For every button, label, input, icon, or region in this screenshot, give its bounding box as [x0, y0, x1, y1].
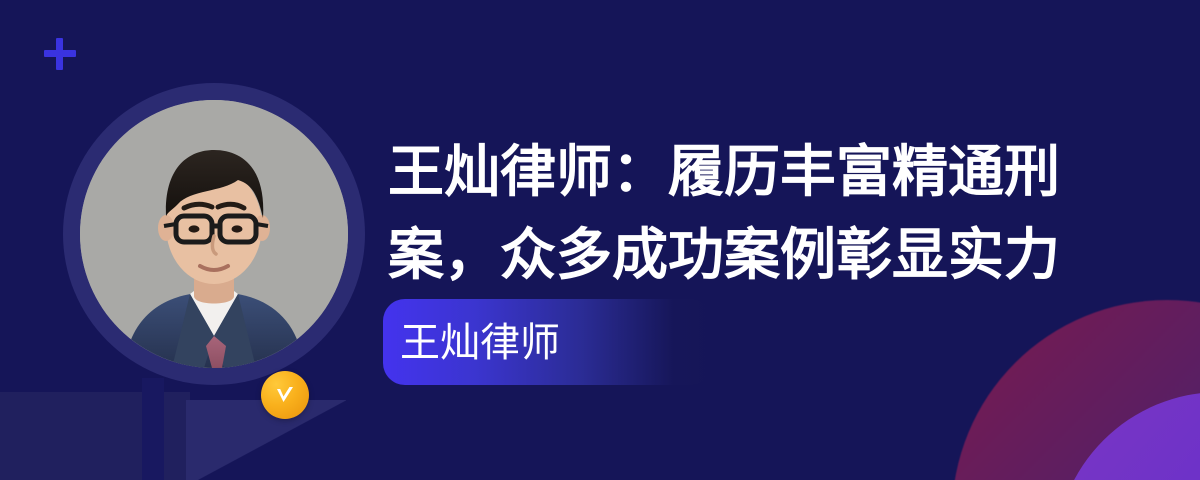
- geometric-block-left: [0, 392, 190, 480]
- avatar: [63, 83, 365, 385]
- geometric-triangle: [186, 400, 346, 480]
- page-title: 王灿律师：履历丰富精通刑案，众多成功案例彰显实力: [388, 130, 1088, 296]
- author-badge-label: 王灿律师: [400, 316, 560, 370]
- violet-arc-decoration: [1055, 392, 1200, 480]
- crimson-arc-decoration: [952, 300, 1200, 480]
- article-banner-card: 王灿律师 王灿律师：履历丰富精通刑案，众多成功案例彰显实力: [0, 0, 1200, 480]
- avatar-photo: [80, 100, 348, 368]
- plus-icon: [44, 38, 76, 70]
- verified-check-icon: [261, 371, 309, 419]
- geometric-block-middle: [142, 378, 164, 480]
